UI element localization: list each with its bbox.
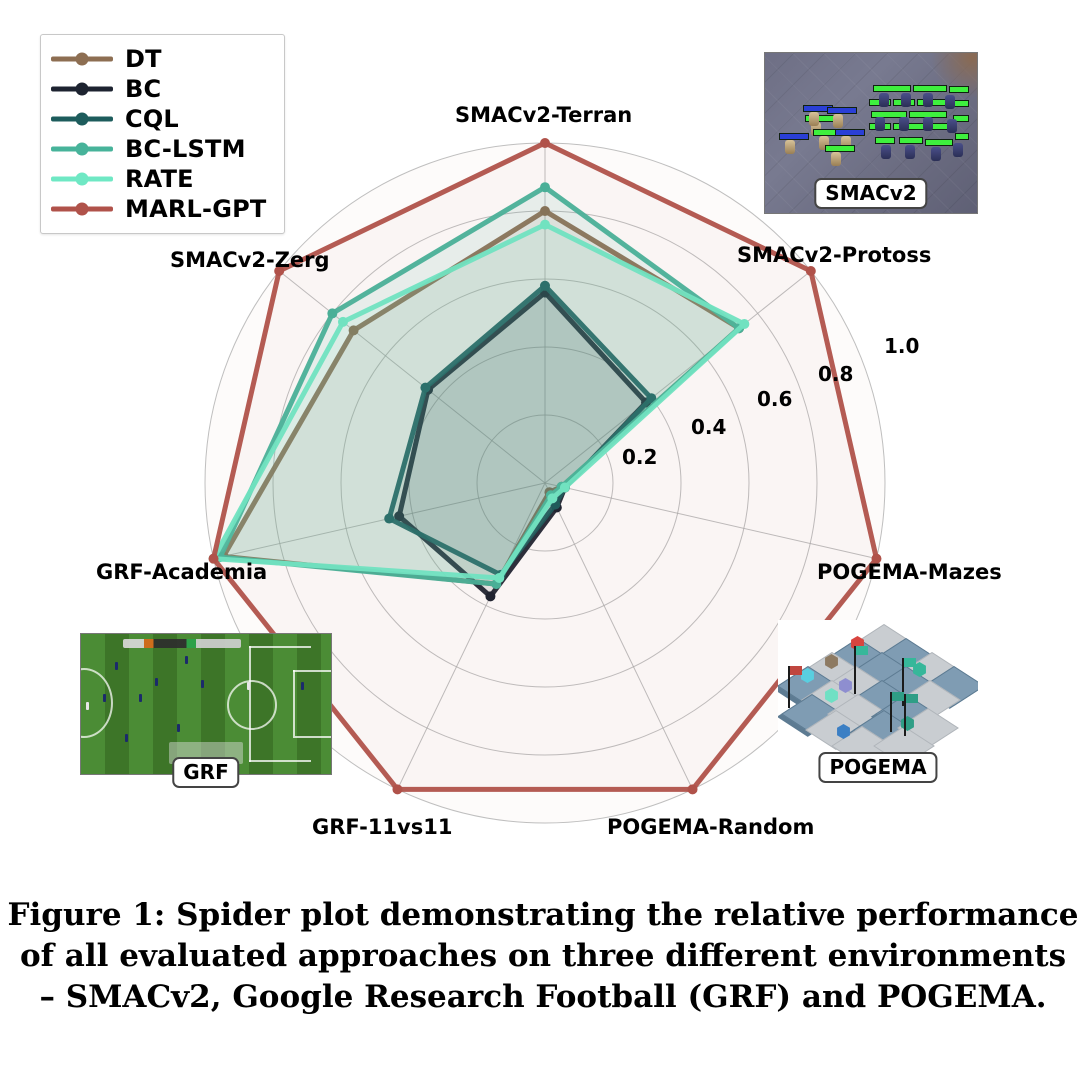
smacv2-thumbnail-tag: SMACv2 <box>814 178 927 209</box>
rtick-label-3: 0.8 <box>818 362 853 386</box>
figure-root: SMACv2-Terran SMACv2-Protoss POGEMA-Maze… <box>0 0 1086 1080</box>
rtick-label-1: 0.4 <box>691 415 726 439</box>
caption-line-2: of all evaluated approaches on three dif… <box>0 936 1086 977</box>
caption-line-1: Figure 1: Spider plot demonstrating the … <box>0 895 1086 936</box>
legend-swatch-marl-gpt <box>51 198 113 220</box>
grf-thumbnail: GRF <box>80 633 332 775</box>
axis-label-grf-11vs11: GRF-11vs11 <box>312 815 452 839</box>
legend-label-cql: CQL <box>125 105 179 133</box>
legend: DT BC CQL BC-LSTM RATE <box>40 34 285 234</box>
legend-swatch-cql <box>51 108 113 130</box>
legend-swatch-dt <box>51 48 113 70</box>
axis-label-pogema-random: POGEMA-Random <box>607 815 814 839</box>
rtick-label-4: 1.0 <box>884 334 919 358</box>
legend-item-bc[interactable]: BC <box>51 74 266 104</box>
legend-swatch-bc <box>51 78 113 100</box>
rtick-label-2: 0.6 <box>757 387 792 411</box>
rtick-label-0: 0.2 <box>622 445 657 469</box>
grf-thumbnail-tag: GRF <box>172 757 239 788</box>
axis-label-smacv2-terran: SMACv2-Terran <box>455 103 632 127</box>
legend-item-bc-lstm[interactable]: BC-LSTM <box>51 134 266 164</box>
grf-thumbnail-image <box>80 633 332 775</box>
legend-item-marl-gpt[interactable]: MARL-GPT <box>51 194 266 224</box>
legend-swatch-bc-lstm <box>51 138 113 160</box>
caption-line-3: – SMACv2, Google Research Football (GRF)… <box>0 977 1086 1018</box>
legend-label-bc-lstm: BC-LSTM <box>125 135 246 163</box>
pogema-thumbnail-tag: POGEMA <box>818 752 937 783</box>
legend-item-cql[interactable]: CQL <box>51 104 266 134</box>
legend-label-marl-gpt: MARL-GPT <box>125 195 266 223</box>
figure-caption: Figure 1: Spider plot demonstrating the … <box>0 895 1086 1018</box>
legend-item-rate[interactable]: RATE <box>51 164 266 194</box>
pogema-thumbnail: POGEMA <box>778 620 978 770</box>
legend-label-rate: RATE <box>125 165 194 193</box>
legend-label-dt: DT <box>125 45 162 73</box>
smacv2-thumbnail: SMACv2 <box>764 52 978 214</box>
pogema-thumbnail-image <box>778 620 978 770</box>
axis-label-smacv2-protoss: SMACv2-Protoss <box>737 243 931 267</box>
legend-item-dt[interactable]: DT <box>51 44 266 74</box>
legend-label-bc: BC <box>125 75 161 103</box>
axis-label-smacv2-zerg: SMACv2-Zerg <box>170 248 330 272</box>
axis-label-pogema-mazes: POGEMA-Mazes <box>817 560 1002 584</box>
legend-swatch-rate <box>51 168 113 190</box>
axis-label-grf-academia: GRF-Academia <box>96 560 267 584</box>
